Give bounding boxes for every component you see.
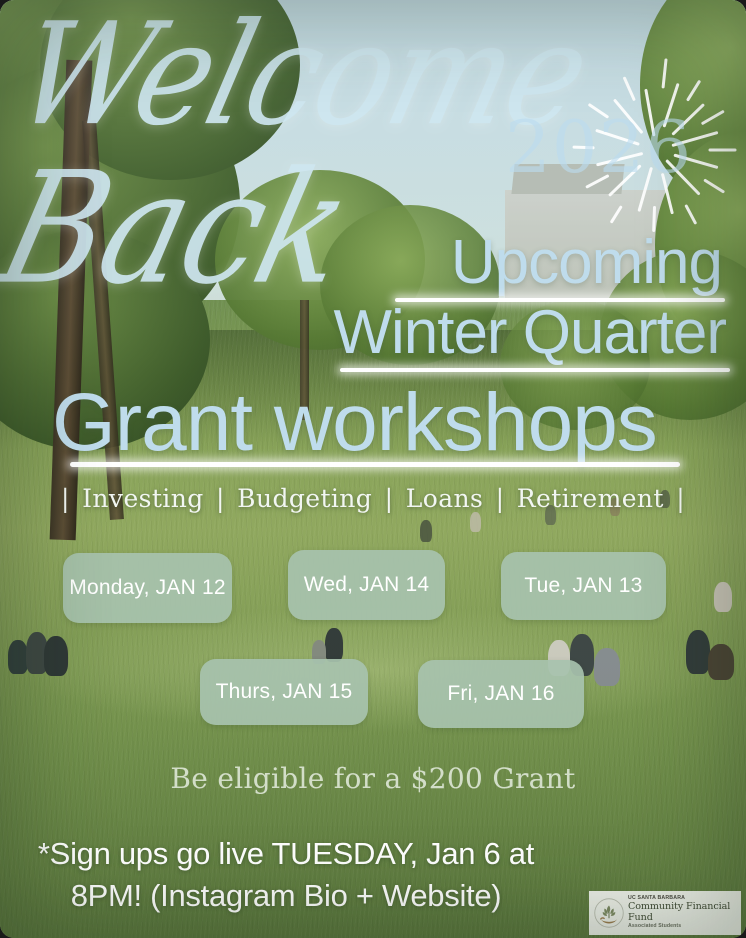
signup-announcement: *Sign ups go live TUESDAY, Jan 6 at 8PM!… (6, 833, 566, 917)
date-card-wednesday[interactable]: Wed, JAN 14 (288, 550, 445, 620)
hand-holding-plant-icon (594, 898, 624, 928)
signup-line-1: *Sign ups go live TUESDAY, Jan 6 at (6, 833, 566, 875)
logo-affiliation: Associated Students (628, 924, 736, 930)
date-card-label: Tue, JAN 13 (524, 574, 642, 598)
poster-flyer: Welcome Back (0, 0, 746, 938)
signup-line-2: 8PM! (Instagram Bio + Website) (6, 875, 566, 917)
date-card-label: Wed, JAN 14 (304, 573, 430, 597)
date-card-thursday[interactable]: Thurs, JAN 15 (200, 659, 368, 725)
cfp-logo: UC SANTA BARBARA Community Financial Fun… (589, 891, 741, 935)
poster-content: Welcome Back (0, 0, 746, 938)
logo-wordmark: UC SANTA BARBARA Community Financial Fun… (628, 896, 736, 929)
date-cards-group: Monday, JAN 12 Wed, JAN 14 Tue, JAN 13 T… (0, 0, 746, 938)
date-card-monday[interactable]: Monday, JAN 12 (63, 553, 232, 623)
logo-org-name: Community Financial Fund (628, 902, 736, 923)
date-card-label: Monday, JAN 12 (69, 576, 226, 600)
date-card-tuesday[interactable]: Tue, JAN 13 (501, 552, 666, 620)
date-card-friday[interactable]: Fri, JAN 16 (418, 660, 584, 728)
date-card-label: Fri, JAN 16 (447, 682, 554, 706)
eligibility-text: Be eligible for a $200 Grant (0, 762, 746, 795)
date-card-label: Thurs, JAN 15 (216, 680, 353, 704)
